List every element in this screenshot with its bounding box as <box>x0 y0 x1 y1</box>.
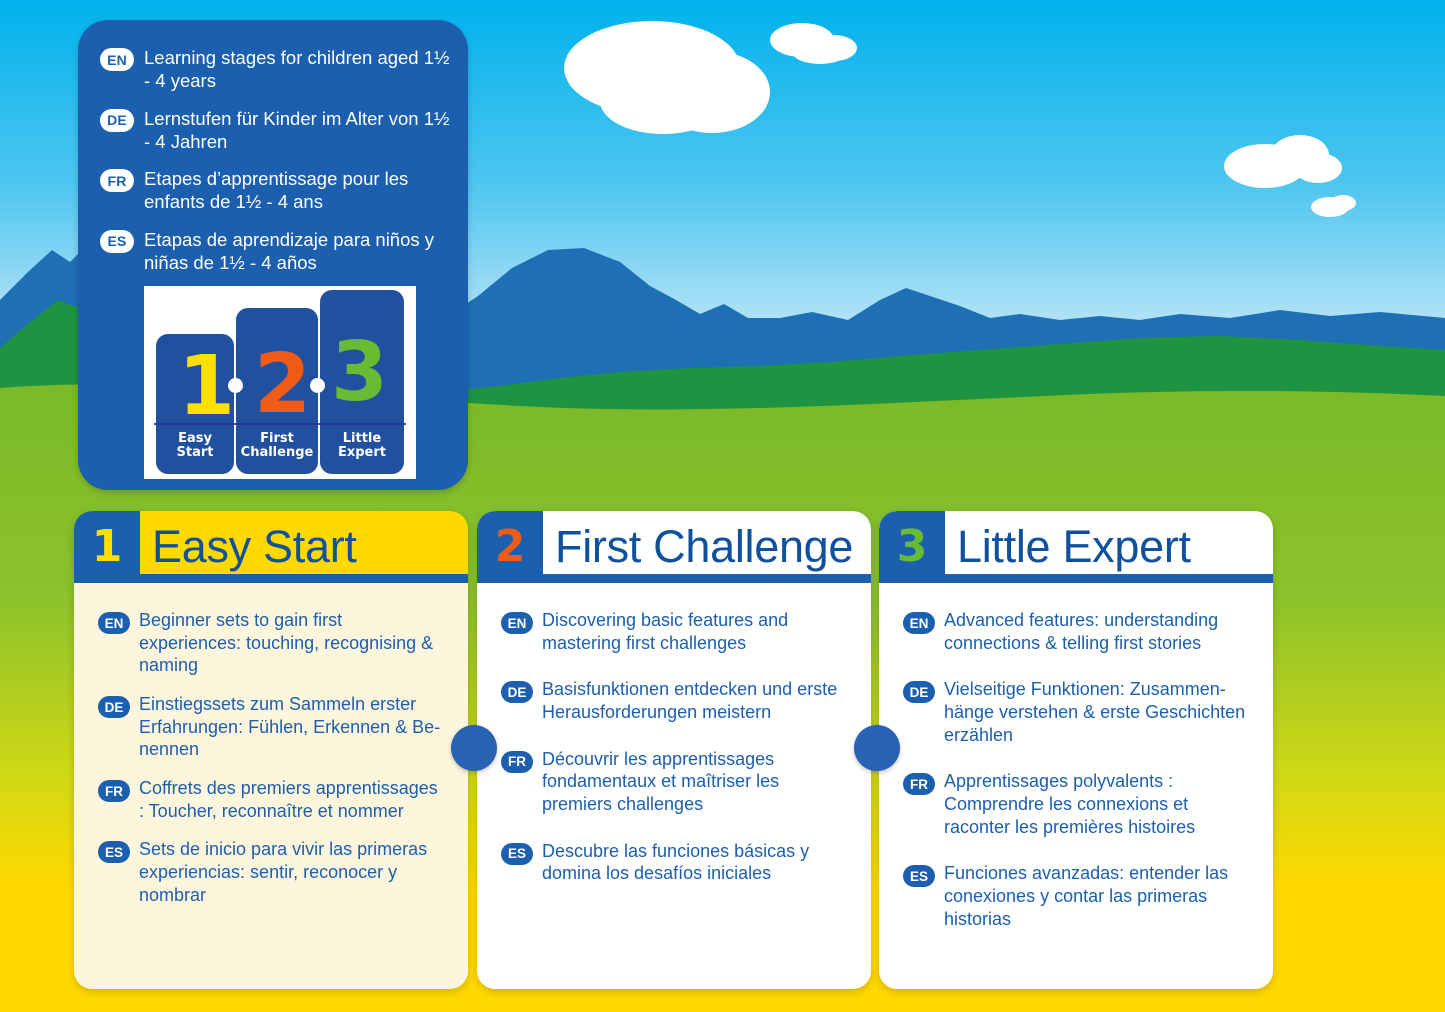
card-1-title: Easy Start <box>152 511 357 583</box>
language-badge-fr: FR <box>98 780 130 802</box>
logo-separator-dot-2 <box>310 378 325 393</box>
language-badge-de: DE <box>501 681 533 703</box>
card-1-header-rule <box>74 574 468 583</box>
logo-caption-1: Easy Start <box>156 432 234 460</box>
card-3-row-en: EN Advanced features: understanding conn… <box>903 609 1253 654</box>
logo-separator-dot-1 <box>228 378 243 393</box>
logo-caption-2-line2: Challenge <box>236 446 318 460</box>
language-badge-es: ES <box>903 865 935 887</box>
card-2-row-en: EN Discovering basic features and master… <box>501 609 851 654</box>
logo-number-2: 2 <box>254 344 311 426</box>
card-1-row-es: ES Sets de inicio para vivir las primera… <box>98 838 448 906</box>
stage-card-easy-start[interactable]: 1 Easy Start EN Beginner sets to gain fi… <box>74 511 468 989</box>
card-2-number: 2 <box>495 525 526 569</box>
card-1-text-es: Sets de inicio para vivir las primeras e… <box>139 838 444 906</box>
language-badge-fr: FR <box>501 751 533 773</box>
intro-text-de: Lernstufen für Kinder im Alter von 1½ - … <box>144 107 452 154</box>
card-3-text-de: Vielseitige Funktionen: Zusammen-hänge v… <box>944 678 1249 746</box>
language-badge-es: ES <box>501 843 533 865</box>
logo-caption-3: Little Expert <box>320 432 404 460</box>
card-2-title: First Challenge <box>555 511 853 583</box>
language-badge-fr: FR <box>100 169 134 192</box>
logo-caption-2-line1: First <box>236 432 318 446</box>
card-3-text-es: Funciones avanzadas: entender las conexi… <box>944 862 1249 930</box>
logo-caption-1-line1: Easy <box>156 432 234 446</box>
card-3-header: 3 Little Expert <box>879 511 1273 583</box>
card-3-header-rule <box>879 574 1273 583</box>
stage-card-first-challenge[interactable]: 2 First Challenge EN Discovering basic f… <box>477 511 871 989</box>
language-badge-en: EN <box>100 48 134 71</box>
card-3-text-en: Advanced features: understanding connect… <box>944 609 1249 654</box>
language-badge-de: DE <box>903 681 935 703</box>
language-badge-de: DE <box>98 696 130 718</box>
language-badge-en: EN <box>501 612 533 634</box>
language-badge-en: EN <box>903 612 935 634</box>
card-3-row-fr: FR Apprentissages polyvalents : Comprend… <box>903 770 1253 838</box>
card-1-body: EN Beginner sets to gain first experienc… <box>74 583 468 989</box>
card-3-number: 3 <box>897 525 928 569</box>
card-2-body: EN Discovering basic features and master… <box>477 583 871 989</box>
logo-number-3: 3 <box>331 332 388 414</box>
card-2-number-badge: 2 <box>477 511 543 583</box>
intro-info-panel: EN Learning stages for children aged 1½ … <box>78 20 468 490</box>
logo-caption-2: First Challenge <box>236 432 318 460</box>
card-3-row-de: DE Vielseitige Funktionen: Zusammen-häng… <box>903 678 1253 746</box>
card-3-number-badge: 3 <box>879 511 945 583</box>
language-badge-es: ES <box>98 841 130 863</box>
logo-123: 1 2 3 Easy Start First Challenge Little … <box>140 282 420 483</box>
logo-caption-1-line2: Start <box>156 446 234 460</box>
card-3-row-es: ES Funciones avanzadas: entender las con… <box>903 862 1253 930</box>
logo-divider-line <box>154 423 406 425</box>
card-2-text-fr: Découvrir les apprentissages fondamentau… <box>542 748 847 816</box>
language-badge-de: DE <box>100 109 134 132</box>
logo-number-1: 1 <box>178 346 235 428</box>
stage-card-little-expert[interactable]: 3 Little Expert EN Advanced features: un… <box>879 511 1273 989</box>
connector-dot-2-3 <box>854 725 900 771</box>
card-1-number-badge: 1 <box>74 511 140 583</box>
card-2-text-de: Basisfunktionen entdecken und erste Hera… <box>542 678 847 723</box>
language-badge-fr: FR <box>903 773 935 795</box>
card-2-row-fr: FR Découvrir les apprentissages fondamen… <box>501 748 851 816</box>
card-1-text-en: Beginner sets to gain first experiences:… <box>139 609 444 677</box>
card-1-header: 1 Easy Start <box>74 511 468 583</box>
intro-text-es: Etapas de aprendizaje para niños y niñas… <box>144 228 452 275</box>
card-3-text-fr: Apprentissages polyvalents : Comprendre … <box>944 770 1249 838</box>
card-2-text-en: Discovering basic features and mastering… <box>542 609 847 654</box>
language-badge-en: EN <box>98 612 130 634</box>
card-1-number: 1 <box>92 525 123 569</box>
intro-row-fr: FR Etapes d’apprentissage pour les enfan… <box>100 167 452 214</box>
card-2-row-es: ES Descubre las funciones básicas y domi… <box>501 840 851 885</box>
intro-row-de: DE Lernstufen für Kinder im Alter von 1½… <box>100 107 452 154</box>
intro-language-list: EN Learning stages for children aged 1½ … <box>100 46 452 288</box>
card-1-text-fr: Coffrets des premiers apprentissages : T… <box>139 777 444 822</box>
card-1-row-fr: FR Coffrets des premiers apprentissages … <box>98 777 448 822</box>
card-1-row-de: DE Einstiegssets zum Sammeln erster Erfa… <box>98 693 448 761</box>
intro-row-en: EN Learning stages for children aged 1½ … <box>100 46 452 93</box>
intro-text-fr: Etapes d’apprentissage pour les enfants … <box>144 167 452 214</box>
connector-dot-1-2 <box>451 725 497 771</box>
logo-caption-3-line2: Expert <box>320 446 404 460</box>
card-3-title: Little Expert <box>957 511 1191 583</box>
card-2-text-es: Descubre las funciones básicas y domina … <box>542 840 847 885</box>
card-2-header: 2 First Challenge <box>477 511 871 583</box>
intro-text-en: Learning stages for children aged 1½ - 4… <box>144 46 452 93</box>
card-1-row-en: EN Beginner sets to gain first experienc… <box>98 609 448 677</box>
intro-row-es: ES Etapas de aprendizaje para niños y ni… <box>100 228 452 275</box>
language-badge-es: ES <box>100 230 134 253</box>
logo-caption-3-line1: Little <box>320 432 404 446</box>
card-3-body: EN Advanced features: understanding conn… <box>879 583 1273 989</box>
card-1-text-de: Einstiegssets zum Sammeln erster Erfahru… <box>139 693 444 761</box>
card-2-header-rule <box>477 574 871 583</box>
card-2-row-de: DE Basisfunktionen entdecken und erste H… <box>501 678 851 723</box>
